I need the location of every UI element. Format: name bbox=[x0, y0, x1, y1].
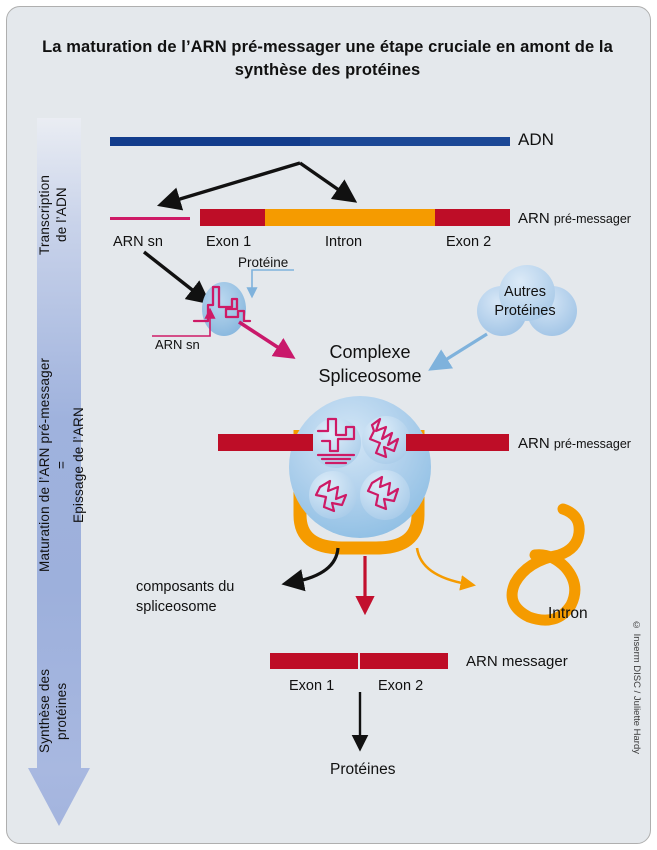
stage-label-synthese: Synthèse des protéines bbox=[37, 646, 81, 776]
credit-text: © Inserm DISC / Juliette Hardy bbox=[631, 620, 642, 754]
stage-arrow: Transcription de l’ADN Maturation de l’A… bbox=[28, 118, 90, 830]
spliceosome-exon2-bar bbox=[406, 434, 509, 451]
arrow-to-arn-messager bbox=[352, 556, 378, 618]
label-intron: Intron bbox=[325, 234, 362, 250]
proteine-leader-line bbox=[232, 268, 298, 304]
label-mrna-exon1: Exon 1 bbox=[289, 678, 334, 694]
exon2-bar bbox=[435, 209, 510, 226]
label-arn-pre-messager-2-main: ARN bbox=[518, 435, 554, 452]
label-composants-spliceosome: composants du spliceosome bbox=[136, 578, 234, 617]
page-title: La maturation de l’ARN pré-messager une … bbox=[40, 36, 615, 83]
spliceosome-exon1-bar bbox=[218, 434, 313, 451]
arrow-to-proteines bbox=[348, 692, 372, 754]
intron-bar bbox=[265, 209, 435, 226]
arrow-to-released-intron bbox=[415, 548, 495, 600]
label-complexe-spliceosome: Complexe Spliceosome bbox=[285, 341, 455, 389]
mrna-exon2-bar bbox=[360, 653, 448, 669]
stage-label-transcription: Transcription de l’ADN bbox=[37, 140, 81, 290]
label-intron-released: Intron bbox=[548, 605, 588, 623]
label-arn-pre-messager-2-sub: pré-messager bbox=[554, 437, 631, 451]
label-arn-pre-messager-sub: pré-messager bbox=[554, 212, 631, 226]
diagram-page: La maturation de l’ARN pré-messager une … bbox=[0, 0, 657, 850]
snrna-strand bbox=[110, 217, 190, 220]
stage-label-maturation: Maturation de l’ARN pré-messager = Episs… bbox=[37, 300, 81, 630]
label-arn-pre-messager-main: ARN bbox=[518, 210, 554, 227]
stage-arrow-head bbox=[28, 768, 90, 830]
dna-strand-segment bbox=[310, 137, 510, 146]
arn-sn-leader-line bbox=[150, 308, 230, 342]
label-mrna-exon2: Exon 2 bbox=[378, 678, 423, 694]
label-arn-messager: ARN messager bbox=[466, 653, 568, 670]
mrna-exon1-bar bbox=[270, 653, 358, 669]
arrow-to-composants bbox=[270, 548, 350, 600]
label-adn: ADN bbox=[518, 130, 554, 150]
label-exon2: Exon 2 bbox=[446, 234, 491, 250]
label-arn-pre-messager-2: ARN pré-messager bbox=[518, 435, 631, 452]
exon1-bar bbox=[200, 209, 265, 226]
label-autres-proteines: Autres Protéines bbox=[470, 283, 580, 321]
spliceosome-sphere bbox=[288, 395, 433, 540]
label-proteines: Protéines bbox=[330, 761, 395, 779]
label-arn-pre-messager: ARN pré-messager bbox=[518, 210, 631, 227]
